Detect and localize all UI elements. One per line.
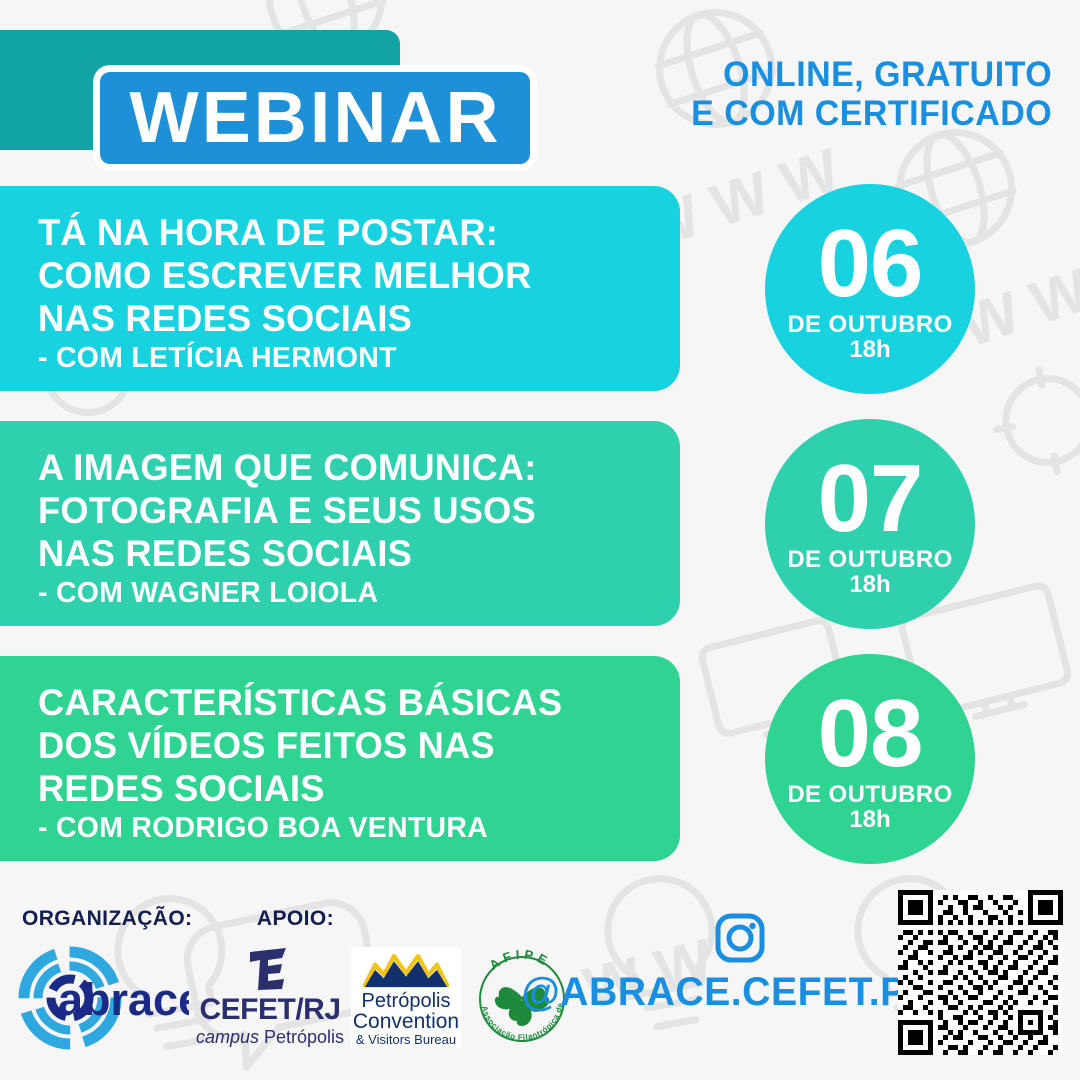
event-day: 07: [818, 457, 923, 541]
event-row: TÁ NA HORA DE POSTAR: COMO ESCREVER MELH…: [0, 186, 1080, 421]
webinar-badge: WEBINAR: [100, 72, 530, 164]
webinar-poster: W W W W W W W W W W WEBINAR ONLINE, GRAT…: [0, 0, 1080, 1080]
abrace-wordmark: abrace: [58, 974, 189, 1025]
event-time: 18h: [849, 572, 890, 597]
event-card: CARACTERÍSTICAS BÁSICAS DOS VÍDEOS FEITO…: [0, 656, 680, 861]
event-title: A IMAGEM QUE COMUNICA: FOTOGRAFIA E SEUS…: [38, 447, 638, 576]
event-title-line: FOTOGRAFIA E SEUS USOS: [38, 490, 638, 533]
support-label: APOIO:: [257, 907, 334, 931]
webinar-badge-label: WEBINAR: [129, 82, 501, 154]
event-card: A IMAGEM QUE COMUNICA: FOTOGRAFIA E SEUS…: [0, 421, 680, 626]
event-title: CARACTERÍSTICAS BÁSICAS DOS VÍDEOS FEITO…: [38, 682, 638, 811]
social-block[interactable]: @ABRACE.CEFET.PET: [540, 912, 940, 1015]
cefet-campus-city: Petrópolis: [259, 1027, 344, 1047]
logo-strip: abrace CEFET/RJ campus Petrópolis Petróp…: [14, 942, 577, 1052]
pcvb-line2: Convention: [353, 1011, 459, 1033]
event-date-circle: 07 DE OUTUBRO 18h: [765, 419, 975, 629]
event-title-line: REDES SOCIAIS: [38, 768, 638, 811]
cefet-campus: campus Petrópolis: [196, 1028, 344, 1048]
petropolis-convention-logo: Petrópolis Convention & Visitors Bureau: [351, 947, 461, 1047]
pcvb-line3: & Visitors Bureau: [356, 1033, 456, 1047]
event-title-line: NAS REDES SOCIAIS: [38, 298, 638, 341]
event-list: TÁ NA HORA DE POSTAR: COMO ESCREVER MELH…: [0, 186, 1080, 891]
header-note-line1: ONLINE, GRATUITO: [691, 55, 1052, 94]
event-speaker: - COM RODRIGO BOA VENTURA: [38, 812, 638, 845]
event-row: CARACTERÍSTICAS BÁSICAS DOS VÍDEOS FEITO…: [0, 656, 1080, 891]
cefet-rj-logo: CEFET/RJ campus Petrópolis: [195, 942, 345, 1052]
event-month: DE OUTUBRO: [787, 547, 952, 572]
event-title: TÁ NA HORA DE POSTAR: COMO ESCREVER MELH…: [38, 212, 638, 341]
event-title-line: COMO ESCREVER MELHOR: [38, 255, 638, 298]
event-title-line: DOS VÍDEOS FEITOS NAS: [38, 725, 638, 768]
qr-code[interactable]: [898, 890, 1063, 1055]
event-month: DE OUTUBRO: [787, 312, 952, 337]
footer-labels: ORGANIZAÇÃO: APOIO:: [22, 907, 542, 931]
event-time: 18h: [849, 337, 890, 362]
cefet-mark-icon: [242, 946, 298, 992]
mountain-icon: [356, 951, 456, 989]
footer: ORGANIZAÇÃO: APOIO: abrace CEFET/RJ camp: [0, 890, 1080, 1080]
event-row: A IMAGEM QUE COMUNICA: FOTOGRAFIA E SEUS…: [0, 421, 1080, 656]
event-date-circle: 06 DE OUTUBRO 18h: [765, 184, 975, 394]
instagram-handle[interactable]: @ABRACE.CEFET.PET: [522, 970, 958, 1015]
event-day: 08: [818, 692, 923, 776]
cefet-name: CEFET/RJ: [199, 995, 340, 1025]
abrace-logo: abrace: [14, 945, 189, 1050]
event-title-line: A IMAGEM QUE COMUNICA:: [38, 447, 638, 490]
event-time: 18h: [849, 807, 890, 832]
event-title-line: TÁ NA HORA DE POSTAR:: [38, 212, 638, 255]
instagram-icon[interactable]: [714, 912, 766, 964]
event-month: DE OUTUBRO: [787, 782, 952, 807]
event-date-circle: 08 DE OUTUBRO 18h: [765, 654, 975, 864]
event-card: TÁ NA HORA DE POSTAR: COMO ESCREVER MELH…: [0, 186, 680, 391]
event-title-line: CARACTERÍSTICAS BÁSICAS: [38, 682, 638, 725]
organization-label: ORGANIZAÇÃO:: [22, 907, 192, 931]
header-note-line2: E COM CERTIFICADO: [691, 94, 1052, 133]
event-title-line: NAS REDES SOCIAIS: [38, 533, 638, 576]
event-day: 06: [818, 222, 923, 306]
event-speaker: - COM LETÍCIA HERMONT: [38, 342, 638, 375]
header-note: ONLINE, GRATUITO E COM CERTIFICADO: [691, 55, 1052, 133]
pcvb-line1: Petrópolis: [362, 991, 451, 1011]
cefet-campus-italic: campus: [196, 1027, 259, 1047]
event-speaker: - COM WAGNER LOIOLA: [38, 577, 638, 610]
